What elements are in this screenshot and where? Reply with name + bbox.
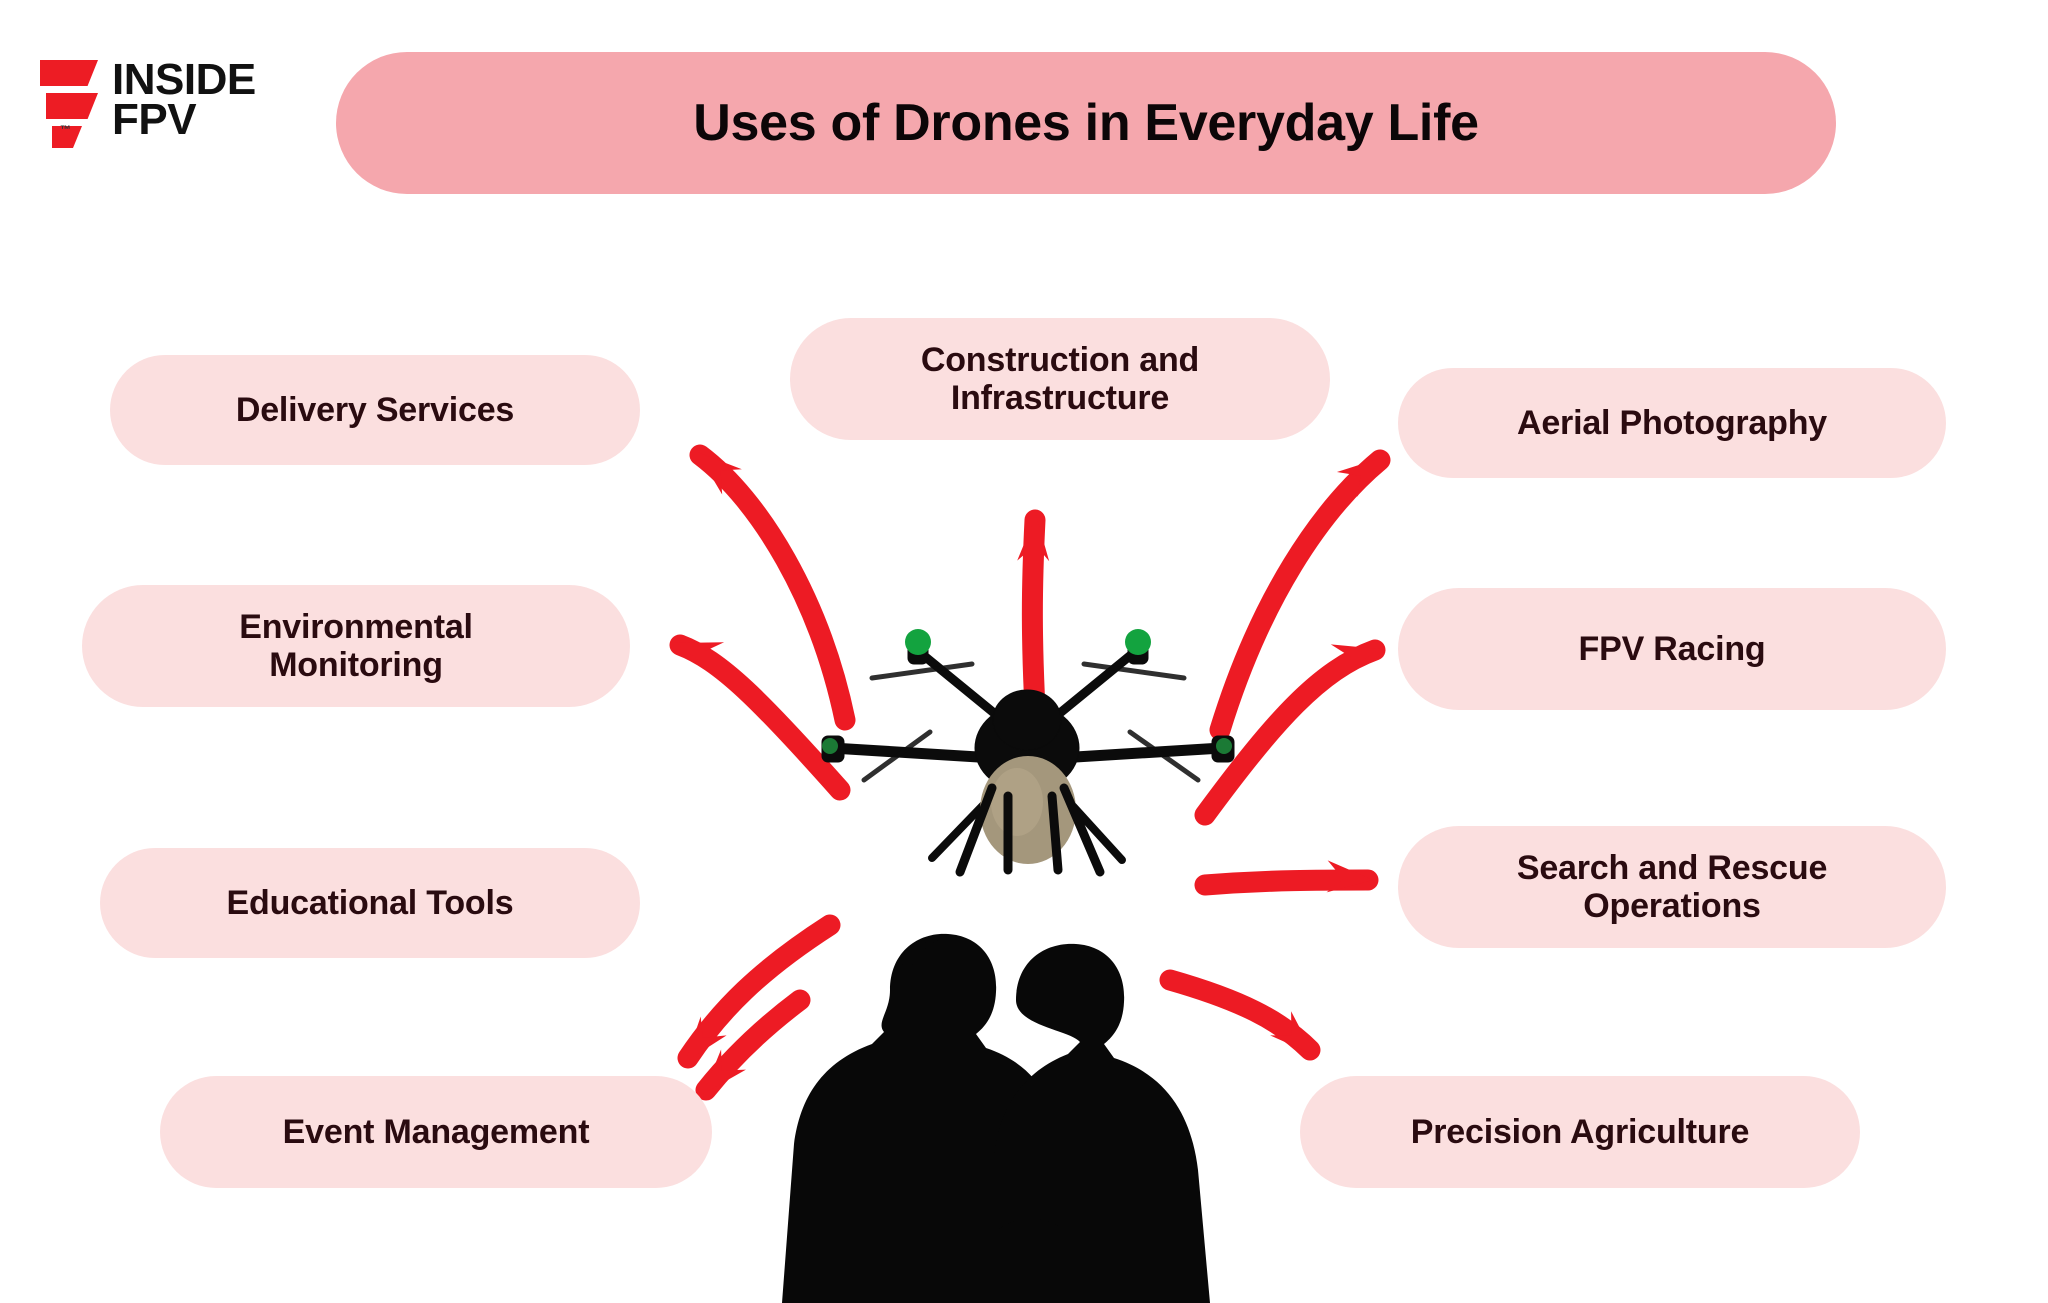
title-banner: Uses of Drones in Everyday Life xyxy=(336,52,1836,194)
page-title: Uses of Drones in Everyday Life xyxy=(693,93,1478,153)
node-label: Environmental Monitoring xyxy=(209,608,503,684)
node-label: Search and Rescue Operations xyxy=(1487,849,1857,925)
infographic-canvas: INSIDE FPV ™ Uses of Drones in Everyday … xyxy=(0,0,2048,1303)
brand-line-2: FPV xyxy=(112,100,256,140)
node-environmental-monitoring[interactable]: Environmental Monitoring xyxy=(82,585,630,707)
brand-wordmark: INSIDE FPV xyxy=(112,60,256,141)
drone-icon xyxy=(812,620,1242,880)
node-label: Construction and Infrastructure xyxy=(891,341,1229,417)
node-label: Precision Agriculture xyxy=(1381,1113,1779,1151)
arrow-to-search-and-rescue xyxy=(1205,880,1368,885)
node-educational-tools[interactable]: Educational Tools xyxy=(100,848,640,958)
node-label: Educational Tools xyxy=(197,884,544,922)
node-event-management[interactable]: Event Management xyxy=(160,1076,712,1188)
pilots-silhouette xyxy=(740,930,1300,1303)
brand-line-1: INSIDE xyxy=(112,60,256,100)
node-aerial-photography[interactable]: Aerial Photography xyxy=(1398,368,1946,478)
node-fpv-racing[interactable]: FPV Racing xyxy=(1398,588,1946,710)
drone-led-left xyxy=(905,629,931,655)
node-delivery-services[interactable]: Delivery Services xyxy=(110,355,640,465)
trademark-symbol: ™ xyxy=(60,124,71,136)
node-label: FPV Racing xyxy=(1549,630,1796,668)
drone-led-right xyxy=(1125,629,1151,655)
node-precision-agriculture[interactable]: Precision Agriculture xyxy=(1300,1076,1860,1188)
node-label: Delivery Services xyxy=(206,391,544,429)
node-label: Event Management xyxy=(253,1113,620,1151)
node-construction-infrastructure[interactable]: Construction and Infrastructure xyxy=(790,318,1330,440)
node-label: Aerial Photography xyxy=(1487,404,1857,442)
arrow-to-aerial-photography xyxy=(1220,460,1380,730)
node-search-and-rescue[interactable]: Search and Rescue Operations xyxy=(1398,826,1946,948)
